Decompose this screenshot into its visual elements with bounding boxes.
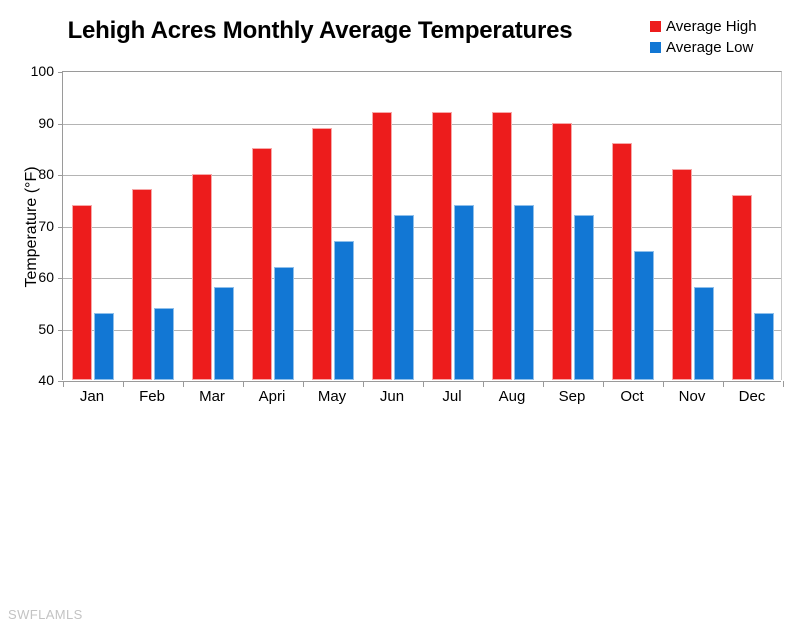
bar-group — [63, 72, 123, 380]
bar-average-low[interactable] — [394, 215, 414, 380]
bar-average-high[interactable] — [72, 205, 92, 380]
x-tick-label: May — [318, 388, 346, 405]
x-tick-mark — [663, 381, 664, 387]
bar-average-low[interactable] — [334, 241, 354, 380]
chart-title: Lehigh Acres Monthly Average Temperature… — [0, 17, 640, 45]
bar-group — [123, 72, 183, 380]
bar-group — [423, 72, 483, 380]
legend-swatch-icon — [650, 21, 661, 32]
bar-group — [663, 72, 723, 380]
bar-average-high[interactable] — [252, 148, 272, 380]
y-tick-label: 40 — [6, 372, 54, 388]
bar-average-low[interactable] — [214, 287, 234, 380]
bar-average-high[interactable] — [492, 112, 512, 380]
bars-layer — [63, 72, 781, 380]
watermark: SWFLAMLS — [8, 607, 83, 622]
legend-item-label: Average Low — [666, 40, 753, 55]
x-tick-mark — [423, 381, 424, 387]
bar-average-high[interactable] — [432, 112, 452, 380]
bar-average-high[interactable] — [132, 189, 152, 380]
bar-average-low[interactable] — [514, 205, 534, 380]
bar-average-high[interactable] — [552, 123, 572, 381]
bar-group — [243, 72, 303, 380]
x-tick-label: Jan — [80, 388, 104, 405]
bar-average-low[interactable] — [154, 308, 174, 380]
bar-group — [723, 72, 783, 380]
x-tick-label: Mar — [199, 388, 225, 405]
y-tick-label: 100 — [6, 63, 54, 79]
legend-item[interactable]: Average Low — [650, 37, 788, 58]
x-tick-mark — [363, 381, 364, 387]
x-tick-mark — [723, 381, 724, 387]
bar-average-low[interactable] — [274, 267, 294, 380]
legend-swatch-icon — [650, 42, 661, 53]
bar-group — [543, 72, 603, 380]
bar-average-low[interactable] — [634, 251, 654, 380]
bar-group — [303, 72, 363, 380]
x-tick-mark — [303, 381, 304, 387]
bar-average-low[interactable] — [94, 313, 114, 380]
x-tick-mark — [123, 381, 124, 387]
x-axis-labels: JanFebMarApriMayJunJulAugSepOctNovDec — [62, 388, 782, 412]
x-tick-mark — [783, 381, 784, 387]
bar-group — [603, 72, 663, 380]
bar-average-high[interactable] — [612, 143, 632, 380]
legend-item[interactable]: Average High — [650, 16, 788, 37]
x-tick-mark — [243, 381, 244, 387]
bar-average-low[interactable] — [454, 205, 474, 380]
x-tick-mark — [183, 381, 184, 387]
x-tick-label: Jun — [380, 388, 404, 405]
y-tick-label: 90 — [6, 115, 54, 131]
chart-legend: Average HighAverage Low — [650, 16, 788, 58]
x-tick-label: Aug — [499, 388, 526, 405]
bar-group — [483, 72, 543, 380]
bar-average-high[interactable] — [312, 128, 332, 380]
bar-average-high[interactable] — [372, 112, 392, 380]
bar-average-high[interactable] — [672, 169, 692, 380]
bar-average-high[interactable] — [192, 174, 212, 380]
x-tick-label: Apri — [259, 388, 286, 405]
bar-average-low[interactable] — [694, 287, 714, 380]
x-tick-mark — [543, 381, 544, 387]
x-tick-mark — [603, 381, 604, 387]
x-tick-mark — [483, 381, 484, 387]
bar-group — [363, 72, 423, 380]
x-tick-label: Oct — [620, 388, 643, 405]
plot-area — [62, 71, 782, 380]
x-tick-label: Nov — [679, 388, 706, 405]
x-tick-label: Jul — [442, 388, 461, 405]
x-tick-label: Dec — [739, 388, 766, 405]
bar-group — [183, 72, 243, 380]
gridline — [63, 381, 781, 382]
y-tick-label: 80 — [6, 166, 54, 182]
legend-item-label: Average High — [666, 19, 757, 34]
y-tick-label: 50 — [6, 321, 54, 337]
y-tick-label: 70 — [6, 218, 54, 234]
y-tick-label: 60 — [6, 269, 54, 285]
x-tick-label: Feb — [139, 388, 165, 405]
x-tick-label: Sep — [559, 388, 586, 405]
chart-container: Lehigh Acres Monthly Average Temperature… — [0, 0, 788, 627]
x-tick-mark — [63, 381, 64, 387]
bar-average-low[interactable] — [574, 215, 594, 380]
bar-average-high[interactable] — [732, 195, 752, 380]
bar-average-low[interactable] — [754, 313, 774, 380]
